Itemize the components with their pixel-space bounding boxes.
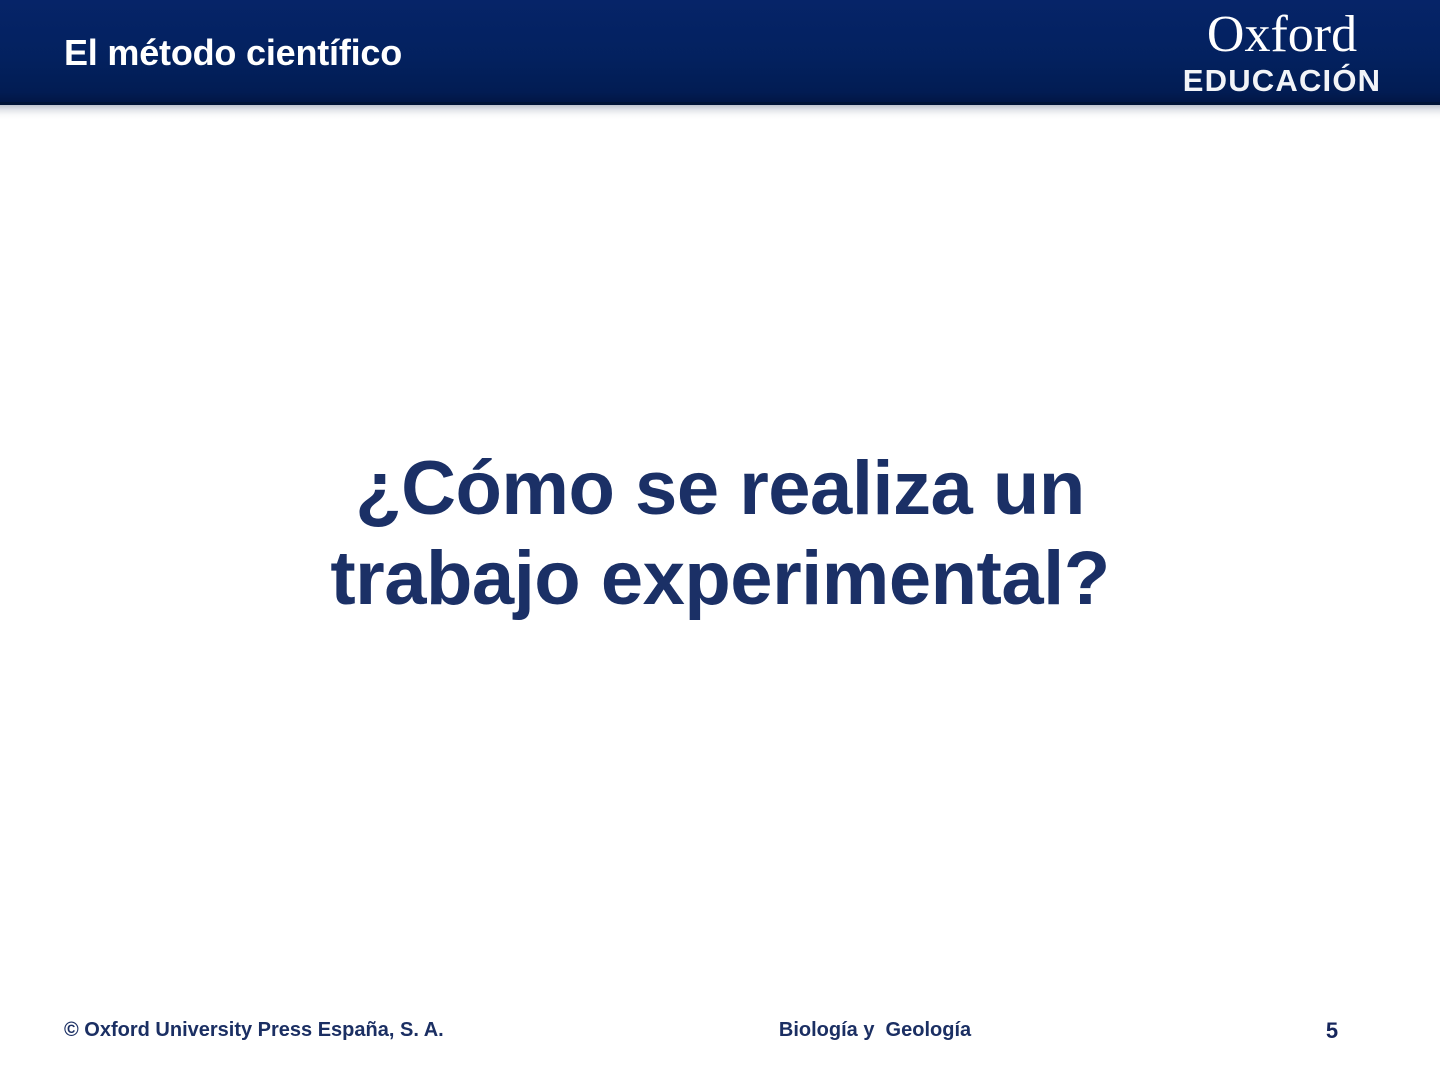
- oxford-logo-wordmark: Oxford: [1182, 8, 1382, 63]
- main-heading-line-2: trabajo experimental?: [120, 534, 1320, 624]
- oxford-logo-subtitle: EDUCACIÓN: [1182, 65, 1382, 98]
- header-shadow: [0, 105, 1440, 119]
- slide-body: ¿Cómo se realiza un trabajo experimental…: [0, 119, 1440, 999]
- page-title: El método científico: [64, 35, 402, 71]
- main-heading: ¿Cómo se realiza un trabajo experimental…: [120, 444, 1320, 623]
- oxford-logo: Oxford EDUCACIÓN: [1182, 8, 1382, 97]
- main-heading-line-1: ¿Cómo se realiza un: [120, 444, 1320, 534]
- header-bar: El método científico Oxford EDUCACIÓN: [0, 0, 1440, 105]
- slide-footer: © Oxford University Press España, S. A. …: [0, 1012, 1440, 1052]
- footer-copyright: © Oxford University Press España, S. A.: [64, 1016, 444, 1044]
- slide: El método científico Oxford EDUCACIÓN ¿C…: [0, 0, 1440, 1080]
- footer-page-number: 5: [1300, 1016, 1364, 1047]
- footer-subject: Biología y Geología: [620, 1016, 1130, 1044]
